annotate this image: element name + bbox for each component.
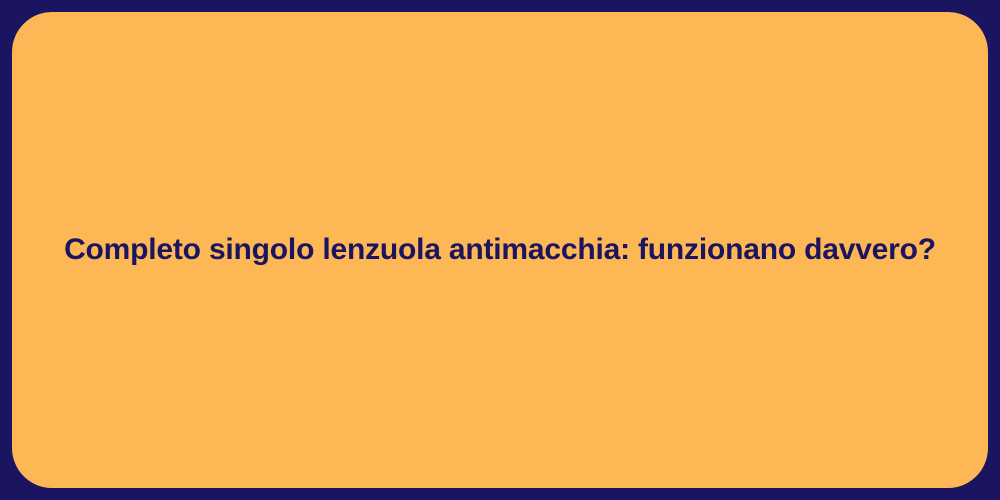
banner-frame: Completo singolo lenzuola antimacchia: f… [0, 0, 1000, 500]
banner-card: Completo singolo lenzuola antimacchia: f… [12, 12, 988, 488]
headline-text: Completo singolo lenzuola antimacchia: f… [64, 231, 936, 269]
